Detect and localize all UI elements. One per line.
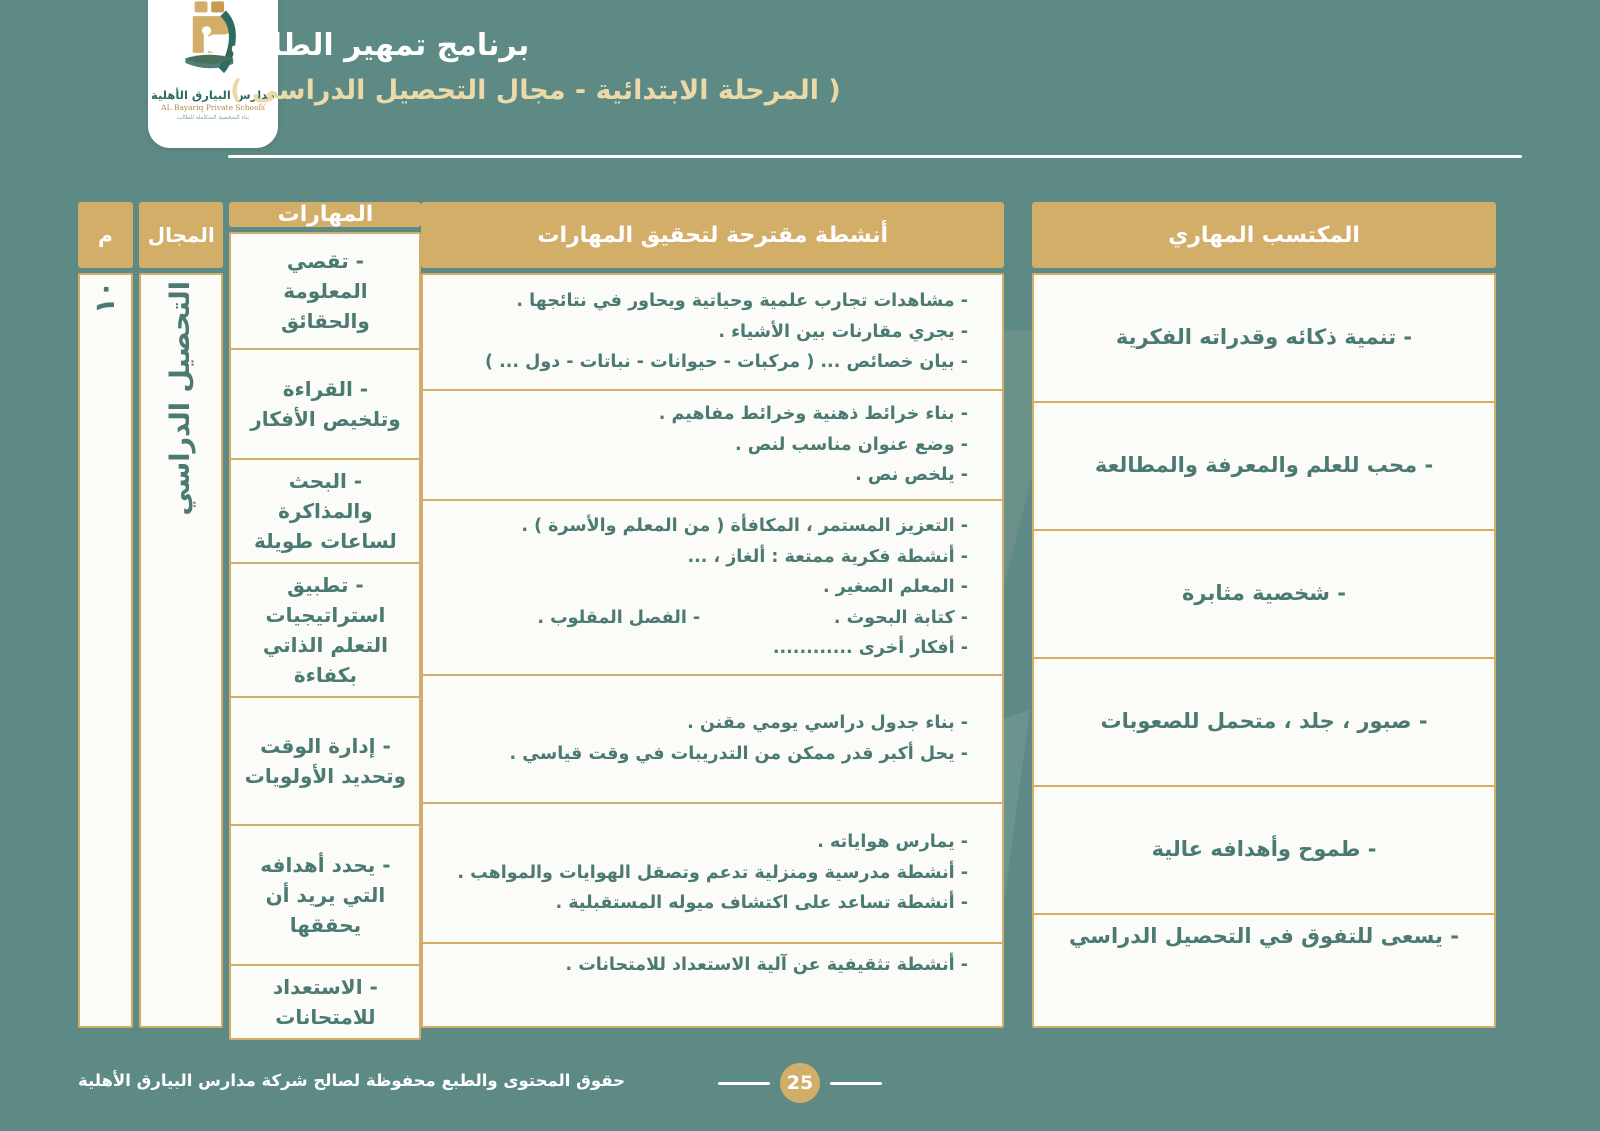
activity-line-left: - كتابة البحوث . [834, 603, 968, 634]
acquired-cell: - يسعى للتفوق في التحصيل الدراسي [1034, 915, 1494, 959]
number-value: ١٠ [90, 281, 121, 314]
header-activities: أنشطة مقترحة لتحقيق المهارات [421, 202, 1004, 268]
page-number-badge: 25 [780, 1063, 820, 1103]
acquired-body: - تنمية ذكائه وقدراته الفكرية - محب للعل… [1032, 273, 1496, 1028]
activities-cell-1: - مشاهدات تجارب علمية وحياتية ويحاور في … [423, 275, 1002, 391]
skill-cell: - تقصي المعلومة والحقائق [231, 234, 419, 350]
activities-cell-2: - بناء خرائط ذهنية وخرائط مفاهيم . - وضع… [423, 391, 1002, 501]
activity-line: - وضع عنوان مناسب لنص . [457, 430, 968, 461]
page-footer: حقوق المحتوى والطبع محفوظة لصالح شركة مد… [0, 1059, 1600, 1109]
skill-cell: - البحث والمذاكرة لساعات طويلة [231, 460, 419, 564]
acquired-cell: - تنمية ذكائه وقدراته الفكرية [1034, 275, 1494, 403]
activity-line: - أنشطة تساعد على اكتشاف ميوله المستقبلي… [457, 888, 968, 919]
activities-cell-3: - التعزيز المستمر ، المكافأة ( من المعلم… [423, 501, 1002, 676]
skill-cell: - إدارة الوقت وتحديد الأولويات [231, 698, 419, 826]
activity-line: - المعلم الصغير . [457, 572, 968, 603]
column-number: م ١٠ [78, 202, 133, 1028]
activities-cell-4: - بناء جدول دراسي يومي مقنن . - يحل أكبر… [423, 676, 1002, 804]
activity-line-pair: - كتابة البحوث . - الفصل المقلوب . [457, 603, 968, 634]
skills-body: - تقصي المعلومة والحقائق - القراءة وتلخي… [229, 232, 421, 1040]
acquired-cell: - محب للعلم والمعرفة والمطالعة [1034, 403, 1494, 531]
number-cell: ١٠ [80, 275, 131, 320]
skill-cell: - القراءة وتلخيص الأفكار [231, 350, 419, 460]
activity-line-right: - الفصل المقلوب . [537, 603, 700, 634]
activity-line: - يحل أكبر قدر ممكن من التدريبات في وقت … [457, 739, 968, 770]
domain-body: التحصيل الدراسي [139, 273, 223, 1028]
header-title-block: برنامج تمهير الطلاب ( المرحلة الابتدائية… [230, 26, 1522, 110]
header-domain: المجال [139, 202, 223, 268]
activities-body: - مشاهدات تجارب علمية وحياتية ويحاور في … [421, 273, 1004, 1028]
page-header: مدارس البيارق الأهلية AL Bayariq Private… [0, 0, 1600, 178]
main-table-pane: أنشطة مقترحة لتحقيق المهارات - مشاهدات ت… [72, 202, 1004, 1028]
activity-line: - يجري مقارنات بين الأشياء . [457, 317, 968, 348]
column-skills: المهارات - تقصي المعلومة والحقائق - القر… [229, 202, 421, 1028]
activity-line: - التعزيز المستمر ، المكافأة ( من المعلم… [457, 511, 968, 542]
header-skills: المهارات [229, 202, 421, 227]
page-indicator: 25 [718, 1063, 882, 1103]
pager-bar-right [718, 1082, 770, 1085]
page-subtitle: ( المرحلة الابتدائية - مجال التحصيل الدر… [230, 71, 1522, 110]
acquired-cell: - طموح وأهدافه عالية [1034, 787, 1494, 915]
header-number: م [78, 202, 133, 268]
activity-line: - يمارس هواياته . [457, 827, 968, 858]
activity-line: - يلخص نص . [457, 460, 968, 491]
activities-cell-5: - يمارس هواياته . - أنشطة مدرسية ومنزلية… [423, 804, 1002, 944]
activity-line: - أنشطة تثقيفية عن آلية الاستعداد للامتح… [457, 950, 968, 981]
activities-cell-6: - أنشطة تثقيفية عن آلية الاستعداد للامتح… [423, 944, 1002, 987]
skills-table: أنشطة مقترحة لتحقيق المهارات - مشاهدات ت… [72, 202, 1496, 1028]
column-acquired: المكتسب المهاري - تنمية ذكائه وقدراته ال… [1032, 202, 1496, 1028]
number-body: ١٠ [78, 273, 133, 1028]
column-domain: المجال التحصيل الدراسي [139, 202, 223, 1028]
logo-tagline: بناء الشخصية المتكاملة للطالب [177, 115, 249, 121]
activity-line: - مشاهدات تجارب علمية وحياتية ويحاور في … [457, 286, 968, 317]
acquired-cell: - شخصية مثابرة [1034, 531, 1494, 659]
domain-cell: التحصيل الدراسي [141, 275, 221, 522]
page-title: برنامج تمهير الطلاب [230, 26, 1522, 67]
domain-value: التحصيل الدراسي [165, 281, 197, 516]
activity-line: - بناء خرائط ذهنية وخرائط مفاهيم . [457, 399, 968, 430]
skill-cell: - الاستعداد للامتحانات [231, 966, 419, 1038]
header-divider [228, 155, 1522, 158]
activity-line: - أنشطة مدرسية ومنزلية تدعم وتصقل الهواي… [457, 858, 968, 889]
activity-line: - أفكار أخرى ............ [457, 633, 968, 664]
pager-bar-left [830, 1082, 882, 1085]
acquired-cell: - صبور ، جلد ، متحمل للصعوبات [1034, 659, 1494, 787]
skill-cell: - يحدد أهدافه التي يريد أن يحققها [231, 826, 419, 966]
activity-line: - بناء جدول دراسي يومي مقنن . [457, 708, 968, 739]
activity-line: - أنشطة فكرية ممتعة : ألغاز ، ... [457, 542, 968, 573]
copyright-text: حقوق المحتوى والطبع محفوظة لصالح شركة مد… [78, 1071, 625, 1090]
header-acquired: المكتسب المهاري [1032, 202, 1496, 268]
activity-line: - بيان خصائص ... ( مركبات - حيوانات - نب… [457, 347, 968, 378]
skill-cell: - تطبيق استراتيجيات التعلم الذاتي بكفاءة [231, 564, 419, 698]
column-activities: أنشطة مقترحة لتحقيق المهارات - مشاهدات ت… [421, 202, 1004, 1028]
